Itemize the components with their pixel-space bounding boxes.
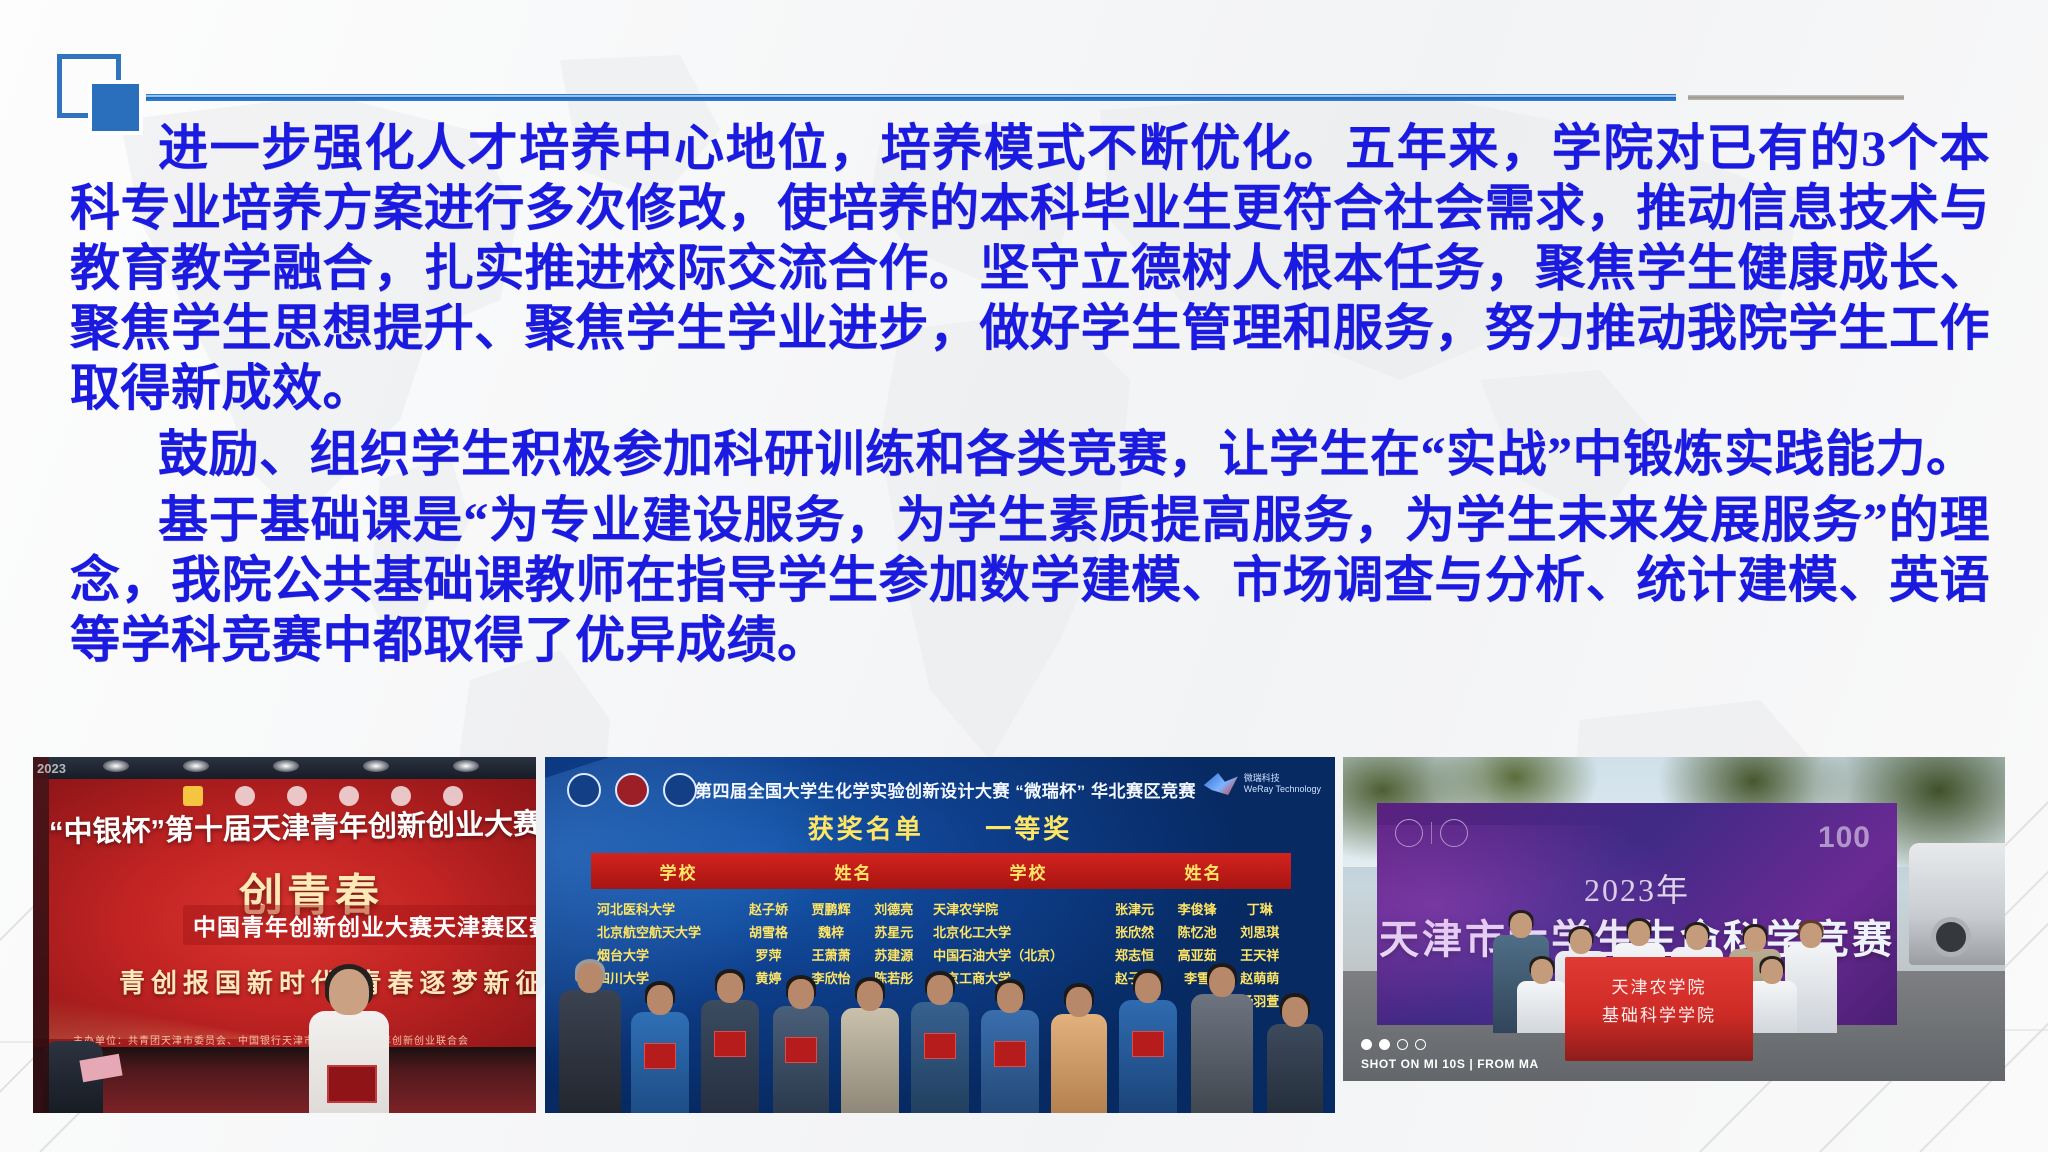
anniversary-emblem-icon	[1440, 819, 1468, 847]
person-head	[1282, 997, 1308, 1027]
cell-name: 贾鹏辉	[800, 899, 863, 918]
watermark-dot-icon	[1379, 1039, 1390, 1050]
cell-name: 张欣然	[1103, 922, 1166, 941]
person-body	[1517, 981, 1567, 1033]
cell-name: 胡雪格	[737, 922, 800, 941]
emblem-divider	[1431, 822, 1432, 844]
person-head	[1744, 927, 1766, 952]
photo1-title-line1: “中银杯”第十届天津青年创新创业大赛暨	[49, 801, 530, 851]
person-body	[1747, 981, 1797, 1033]
photo3-flag-line2: 基础科学学院	[1565, 1001, 1753, 1026]
person-head	[997, 983, 1023, 1013]
cell-name: 李俊锋	[1166, 899, 1229, 918]
cell-name: 刘思琪	[1228, 922, 1291, 941]
person-head	[857, 981, 883, 1011]
watermark-dot-icon	[1397, 1039, 1408, 1050]
person-head	[1761, 959, 1783, 984]
cell-name: 丁琳	[1228, 899, 1291, 918]
photo2-subtitle-left: 获奖名单	[808, 815, 924, 844]
paragraph-1: 进一步强化人才培养中心地位，培养模式不断优化。五年来，学院对已有的3个本科专业培…	[70, 118, 1990, 418]
photo2-sponsor-line1: 微瑞科技	[1244, 773, 1321, 784]
header-rule-gray	[1688, 95, 1904, 100]
student-figure	[1191, 967, 1253, 1113]
photo3-red-flag: 天津农学院 基础科学学院	[1565, 957, 1753, 1061]
photo-strip: “中银杯”第十届天津青年创新创业大赛暨 创青春 中国青年创新创业大赛天津赛区赛 …	[0, 757, 2048, 1117]
paragraph-2: 鼓励、组织学生积极参加科研训练和各类竞赛，让学生在“实战”中锻炼实践能力。	[70, 424, 1990, 484]
award-envelope-icon	[924, 1033, 956, 1059]
photo-innovation-entrepreneurship-competition[interactable]: “中银杯”第十届天津青年创新创业大赛暨 创青春 中国青年创新创业大赛天津赛区赛 …	[33, 757, 536, 1113]
cell-name: 赵子娇	[737, 899, 800, 918]
student-figure	[1051, 987, 1107, 1113]
cell-school: 北京化工大学	[925, 922, 1103, 941]
person-head	[1209, 967, 1235, 997]
slide-root: 进一步强化人才培养中心地位，培养模式不断优化。五年来，学院对已有的3个本科专业培…	[0, 0, 2048, 1152]
award-envelope-icon	[785, 1037, 817, 1063]
photo1-spotlight	[363, 760, 389, 772]
cell-school: 天津农学院	[925, 899, 1103, 918]
award-envelope-icon	[644, 1043, 676, 1069]
header-rule-blue	[146, 94, 1676, 101]
person-body	[841, 1008, 899, 1113]
photo2-sponsor: 微瑞科技 WeRay Technology	[1204, 773, 1321, 795]
university-emblem-icon	[1395, 819, 1423, 847]
person-head	[1531, 959, 1553, 984]
photo1-spotlight	[273, 760, 299, 772]
award-envelope-icon	[1132, 1031, 1164, 1057]
photo3-van	[1909, 843, 2005, 965]
photo2-subtitle-right: 一等奖	[985, 815, 1072, 844]
photo-chemistry-experiment-design-competition[interactable]: 第四届全国大学生化学实验创新设计大赛 “微瑞杯” 华北赛区竞赛 微瑞科技 WeR…	[545, 757, 1335, 1113]
student-figure	[1119, 973, 1177, 1113]
person-head	[788, 979, 814, 1009]
table-row: 北京航空航天大学 胡雪格 魏梓 苏星元 北京化工大学 张欣然 陈忆池 刘思琪	[591, 920, 1291, 943]
photo3-centenary-mark: 100	[1818, 821, 1871, 855]
student-figure	[631, 985, 689, 1113]
column-header: 学校	[591, 859, 766, 884]
person-figure-kneeling	[1747, 959, 1797, 1033]
photo3-emblems	[1395, 819, 1468, 847]
photo2-header-text: 第四届全国大学生化学实验创新设计大赛 “微瑞杯” 华北赛区竞赛	[695, 777, 1196, 802]
cell-name: 魏梓	[800, 922, 863, 941]
certificate-icon	[327, 1065, 377, 1103]
photo1-spotlight	[183, 760, 209, 772]
person-head	[1066, 987, 1092, 1017]
photo2-sponsor-line2: WeRay Technology	[1244, 784, 1321, 795]
person-head	[1800, 923, 1822, 948]
paragraph-3: 基于基础课是“为专业建设服务，为学生素质提高服务，为学生未来发展服务”的理念，我…	[70, 490, 1990, 670]
university-emblem-icon	[615, 773, 649, 807]
student-figure	[1267, 997, 1323, 1113]
photo3-wheel	[1931, 917, 1971, 957]
person-body	[1191, 994, 1253, 1113]
student-figure	[981, 983, 1039, 1113]
student-figure	[559, 963, 621, 1113]
student-figure	[701, 973, 759, 1113]
student-figure	[841, 981, 899, 1113]
photo1-footer: 主办单位：共青团天津市委员会、中国银行天津市分行、天津青年创新创业联合会	[73, 1032, 469, 1047]
person-head	[927, 975, 953, 1005]
photo3-watermark: SHOT ON MI 10S | FROM MA	[1361, 1039, 1539, 1071]
cell-name: 张津元	[1103, 899, 1166, 918]
student-figure	[773, 979, 829, 1113]
person-head	[1510, 913, 1532, 938]
watermark-dot-icon	[1415, 1039, 1426, 1050]
person-head	[647, 985, 673, 1015]
cell-name: 刘德亮	[862, 899, 925, 918]
university-emblem-icon	[663, 773, 697, 807]
person-body	[1051, 1014, 1107, 1113]
person-figure-kneeling	[1517, 959, 1567, 1033]
column-header: 姓名	[1116, 859, 1291, 884]
university-emblem-icon	[567, 773, 601, 807]
sponsor-logo-icon	[235, 786, 255, 806]
photo2-table-header: 学校 姓名 学校 姓名	[591, 853, 1291, 889]
person-head	[1570, 929, 1592, 954]
person-body	[559, 990, 621, 1113]
photo2-students-row	[545, 953, 1335, 1113]
photo2-subtitle: 获奖名单 一等奖	[545, 809, 1335, 846]
cell-school: 北京航空航天大学	[591, 922, 737, 941]
person-head	[717, 973, 743, 1003]
photo1-spotlight	[103, 760, 129, 772]
award-envelope-icon	[714, 1031, 746, 1057]
person-head	[1686, 925, 1708, 950]
photo3-flag-line1: 天津农学院	[1565, 973, 1753, 998]
cell-name: 陈忆池	[1166, 922, 1229, 941]
award-envelope-icon	[994, 1041, 1026, 1067]
sponsor-logo-icon	[183, 786, 203, 806]
photo2-sponsor-text: 微瑞科技 WeRay Technology	[1244, 773, 1321, 795]
sponsor-logo-icon	[287, 786, 307, 806]
photo1-spotlight	[453, 760, 479, 772]
student-figure	[911, 975, 969, 1113]
watermark-text: SHOT ON MI 10S | FROM MA	[1361, 1057, 1539, 1071]
photo-life-science-competition[interactable]: 100 2023年 天津市大学生生命科学竞赛 2023年11月4日 主办单位：天…	[1343, 757, 2005, 1081]
person-head	[1135, 973, 1161, 1003]
photo1-award-recipient	[301, 969, 397, 1113]
body-text-block: 进一步强化人才培养中心地位，培养模式不断优化。五年来，学院对已有的3个本科专业培…	[70, 118, 1990, 670]
sponsor-logo-icon	[1204, 773, 1238, 795]
person-head	[329, 969, 369, 1015]
cell-name: 苏星元	[862, 922, 925, 941]
person-body	[1267, 1024, 1323, 1113]
table-row: 河北医科大学 赵子娇 贾鹏辉 刘德亮 天津农学院 张津元 李俊锋 丁琳	[591, 897, 1291, 920]
person-head	[1628, 921, 1650, 946]
photo1-title-line3: 中国青年创新创业大赛天津赛区赛	[183, 905, 536, 945]
watermark-dots	[1361, 1039, 1539, 1050]
person-head	[577, 963, 603, 993]
photo1-year-label: 2023	[37, 761, 66, 776]
photo1-left-band: 2023	[33, 757, 49, 1113]
photo2-emblems	[567, 773, 697, 807]
watermark-dot-icon	[1361, 1039, 1372, 1050]
column-header: 姓名	[766, 859, 941, 884]
cell-school: 河北医科大学	[591, 899, 737, 918]
column-header: 学校	[941, 859, 1116, 884]
